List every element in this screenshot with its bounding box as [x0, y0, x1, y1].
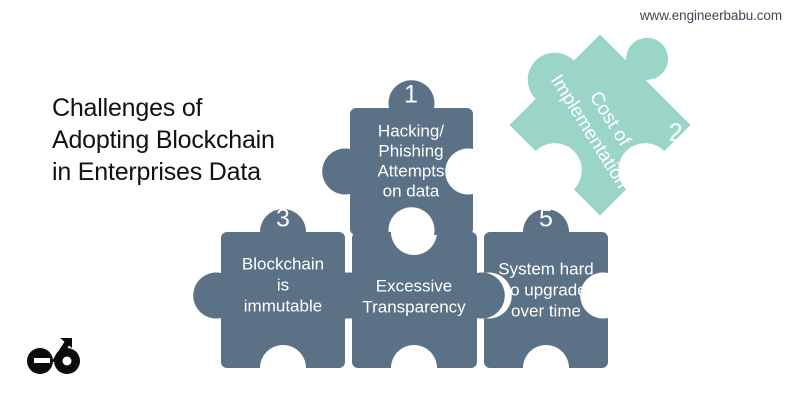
eb-logo-e-bar	[34, 358, 50, 363]
puzzle-piece-5-label-line3: over time	[511, 301, 581, 320]
puzzle-piece-1-label-line1: Hacking/	[378, 121, 444, 140]
puzzle-piece-1[interactable]: 1 Hacking/ Phishing Attempts on data	[322, 80, 473, 235]
eb-logo[interactable]	[24, 334, 84, 378]
puzzle-piece-4-number: 4	[407, 209, 421, 237]
puzzle-piece-1-label-line3: Attempts	[377, 161, 444, 180]
puzzle-piece-5-label-line2: to upgrade	[505, 280, 586, 299]
puzzle-piece-5-number: 5	[539, 205, 553, 233]
puzzle-piece-2[interactable]: 2 Cost of Implementation	[475, 0, 732, 246]
puzzle-piece-3-label-line3: immutable	[244, 296, 322, 315]
puzzle-piece-5-label-line1: System hard	[498, 259, 593, 278]
puzzle-piece-3-label-line1: Blockchain	[242, 254, 324, 273]
puzzle-piece-2-number: 2	[669, 119, 683, 147]
puzzle-piece-1-label-line2: Phishing	[378, 141, 443, 160]
puzzle-piece-1-number: 1	[404, 81, 418, 109]
puzzle-piece-3-number: 3	[276, 205, 290, 233]
puzzle-piece-1-label-line4: on data	[383, 181, 440, 200]
puzzle-piece-4-label-line2: Transparency	[362, 297, 466, 316]
eb-logo-b-hole	[63, 357, 72, 366]
puzzle-diagram: 2 Cost of Implementation 1 Hacking/ Phis…	[0, 0, 800, 400]
puzzle-piece-3-label-line2: is	[277, 275, 289, 294]
puzzle-piece-4-label-line1: Excessive	[376, 276, 453, 295]
